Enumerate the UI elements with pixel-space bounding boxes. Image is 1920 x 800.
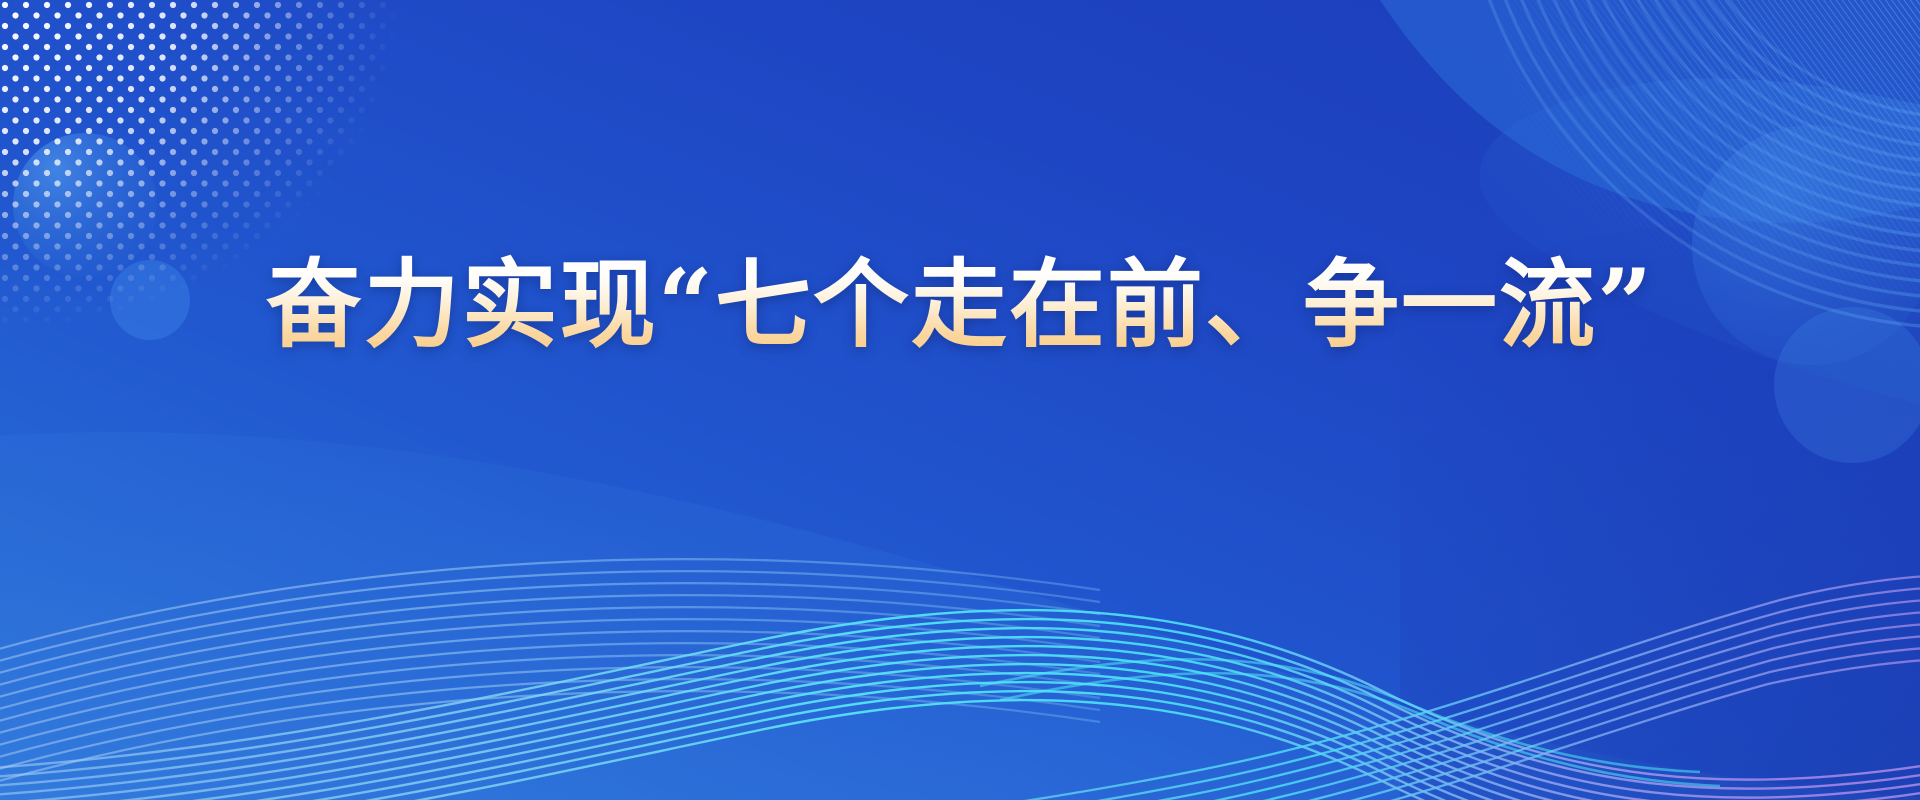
page-title: 奋力实现“七个走在前、争一流” (256, 252, 1664, 358)
blob-bottom-left (0, 432, 1920, 800)
arc-lines-top-right (0, 0, 1920, 800)
background-shapes-layer (0, 0, 1920, 800)
background-base (0, 0, 1920, 800)
wave-bundle-main-a (0, 610, 1920, 800)
diagonal-hatch-top-right (0, 0, 1920, 800)
dot-grid-top-left (0, 0, 1920, 800)
blob-right-dark (1380, 0, 1920, 223)
wave-highlight-cyan (980, 659, 1720, 786)
wave-lines-bottom (0, 0, 1920, 800)
wave-bundle-main-b (380, 574, 1920, 800)
headline-container: 奋力实现“七个走在前、争一流” (0, 240, 1920, 370)
promo-banner: 奋力实现“七个走在前、争一流” (0, 0, 1920, 800)
wave-bundle-left-soft (0, 559, 1100, 792)
